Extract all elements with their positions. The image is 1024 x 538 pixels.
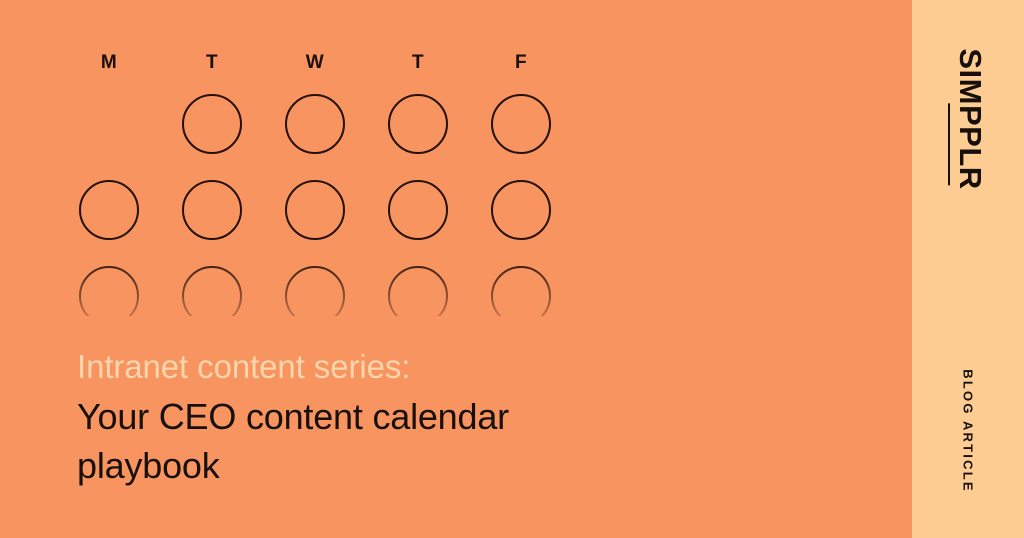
eyebrow-text: Intranet content series:: [77, 345, 777, 389]
circle-icon: [388, 266, 448, 326]
circle-icon: [182, 266, 242, 326]
kicker-text: BLOG ARTICLE: [961, 369, 976, 492]
calendar-cell: [77, 180, 141, 242]
circle-icon: [491, 180, 551, 240]
circle-icon: [491, 94, 551, 154]
calendar-cell: [283, 94, 347, 156]
page-title: Your CEO content calendar playbook: [77, 392, 577, 490]
calendar-cell: [386, 94, 450, 156]
logo-wordmark: SIMPPLR: [948, 48, 988, 189]
circle-icon: [491, 266, 551, 326]
circle-icon: [285, 180, 345, 240]
calendar-cell: [489, 180, 553, 242]
simpplr-logo: SIMPPLR: [912, 34, 1024, 204]
circle-icon: [182, 180, 242, 240]
calendar-row: [77, 94, 657, 156]
day-label-wednesday: W: [283, 46, 347, 80]
content-type-label: BLOG ARTICLE: [912, 352, 1024, 510]
circle-icon: [79, 94, 139, 154]
calendar-day-header: M T W T F: [77, 46, 553, 80]
right-rail: SIMPPLR BLOG ARTICLE: [912, 0, 1024, 538]
circle-icon: [388, 180, 448, 240]
calendar-cell: [77, 266, 141, 328]
logo-underline-bar: [948, 103, 950, 185]
calendar-cell: [180, 266, 244, 328]
logo-text: SIMPPLR: [953, 48, 988, 189]
day-label-friday: F: [489, 46, 553, 80]
calendar-cell: [283, 180, 347, 242]
calendar-graphic: M T W T F: [77, 46, 657, 316]
calendar-cell: [283, 266, 347, 328]
day-label-tuesday: T: [180, 46, 244, 80]
calendar-cell: [386, 180, 450, 242]
calendar-cell: [77, 94, 141, 156]
circle-icon: [285, 94, 345, 154]
calendar-cell: [489, 94, 553, 156]
calendar-cell: [386, 266, 450, 328]
calendar-row: [77, 180, 657, 242]
calendar-grid: [77, 94, 657, 316]
calendar-cell: [489, 266, 553, 328]
main-panel: M T W T F: [0, 0, 912, 538]
headline-block: Intranet content series: Your CEO conten…: [77, 345, 777, 490]
circle-icon: [79, 266, 139, 326]
circle-icon: [285, 266, 345, 326]
blog-article-banner: M T W T F: [0, 0, 1024, 538]
day-label-thursday: T: [386, 46, 450, 80]
calendar-cell: [180, 180, 244, 242]
calendar-cell: [180, 94, 244, 156]
circle-icon: [388, 94, 448, 154]
circle-icon: [79, 180, 139, 240]
day-label-monday: M: [77, 46, 141, 80]
calendar-row: [77, 266, 657, 328]
circle-icon: [182, 94, 242, 154]
